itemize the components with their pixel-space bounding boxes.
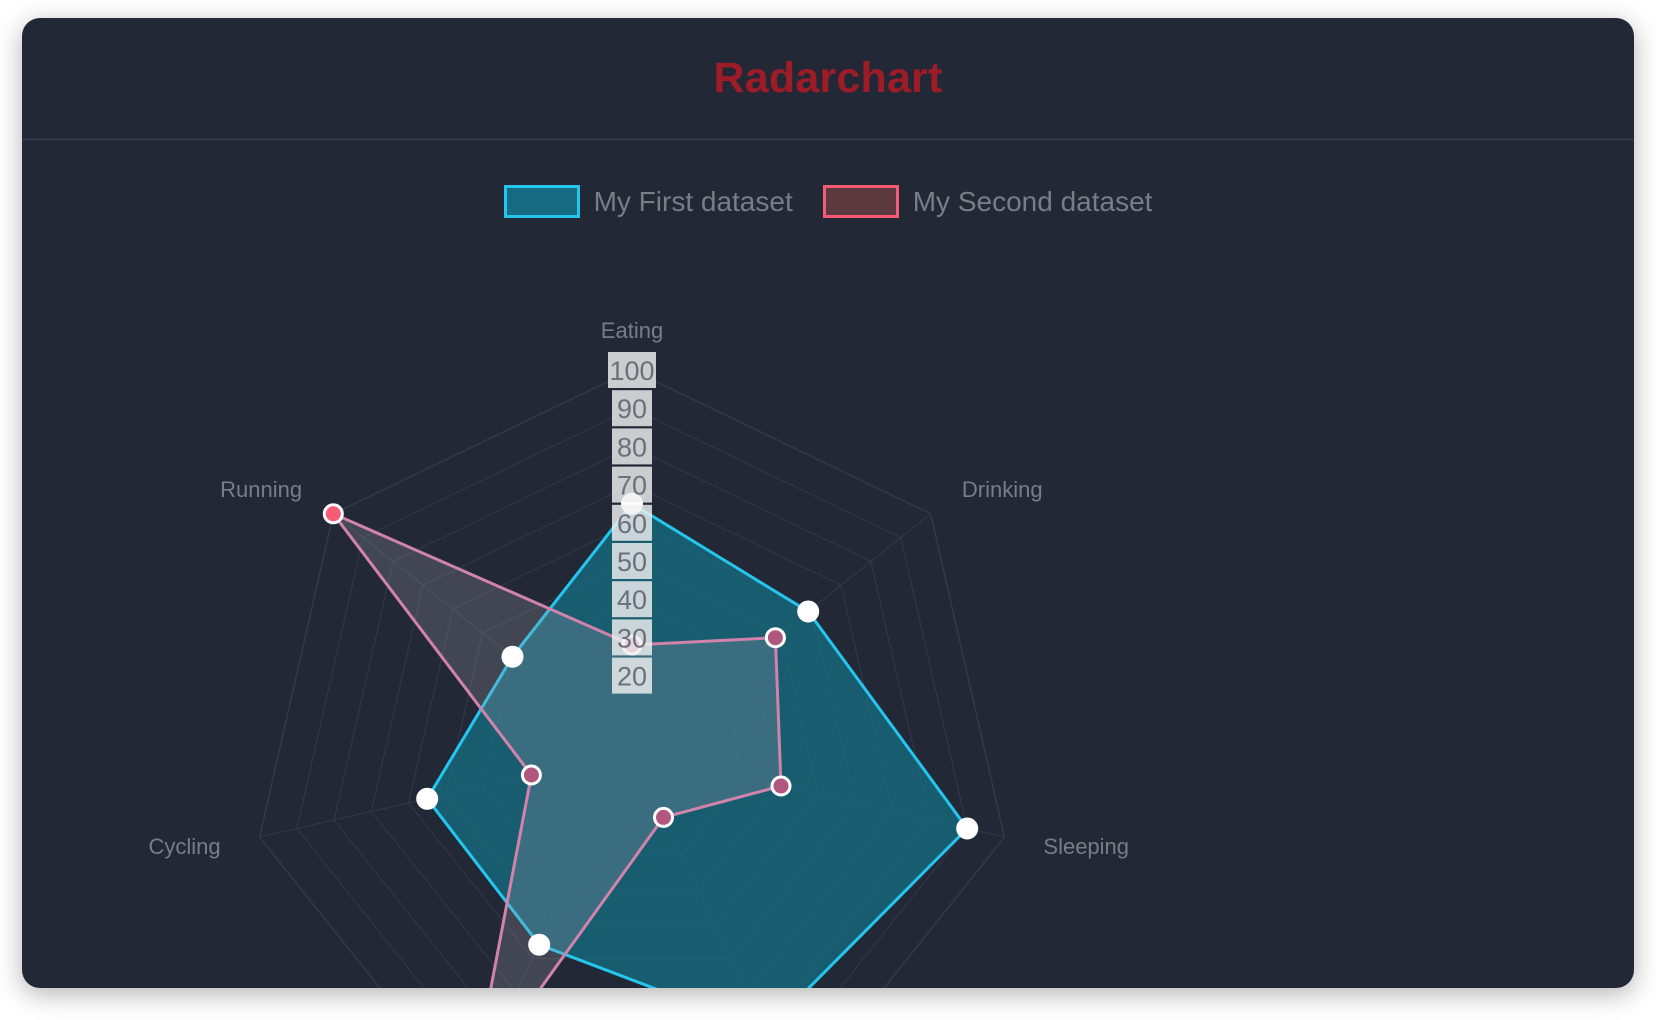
tick-label: 60 xyxy=(617,509,647,539)
radar-svg: EatingDrinkingSleepingDesigningCodingCyc… xyxy=(22,140,1634,988)
tick-label: 20 xyxy=(617,662,647,692)
tick-label: 90 xyxy=(617,394,647,424)
page-title: Radarchart xyxy=(713,54,942,103)
tick-label-group: 70 xyxy=(612,467,652,503)
tick-label-group: 100 xyxy=(608,352,656,388)
data-point[interactable] xyxy=(529,935,549,955)
card-header: Radarchart xyxy=(22,18,1634,140)
card-body: My First dataset My Second dataset Eatin… xyxy=(22,140,1634,988)
tick-label: 80 xyxy=(617,432,647,462)
tick-label: 30 xyxy=(617,623,647,653)
tick-label-group: 40 xyxy=(612,581,652,617)
data-point[interactable] xyxy=(798,602,818,622)
axis-label-cycling: Cycling xyxy=(148,834,220,859)
axis-label-eating: Eating xyxy=(601,318,663,343)
data-point[interactable] xyxy=(772,777,790,795)
tick-label: 40 xyxy=(617,585,647,615)
tick-label-group: 50 xyxy=(612,543,652,579)
radar-chart[interactable]: EatingDrinkingSleepingDesigningCodingCyc… xyxy=(22,140,1634,988)
tick-label-group: 60 xyxy=(612,505,652,541)
data-point[interactable] xyxy=(766,629,784,647)
tick-label: 100 xyxy=(609,356,654,386)
data-point[interactable] xyxy=(522,766,540,784)
radarchart-card: Radarchart My First dataset My Second da… xyxy=(22,18,1634,988)
data-point[interactable] xyxy=(503,647,523,667)
tick-label-group: 90 xyxy=(612,390,652,426)
tick-label-group: 20 xyxy=(612,658,652,694)
tick-label: 50 xyxy=(617,547,647,577)
axis-label-drinking: Drinking xyxy=(962,477,1043,502)
data-point[interactable] xyxy=(417,789,437,809)
data-point[interactable] xyxy=(655,808,673,826)
axis-label-running: Running xyxy=(220,477,302,502)
axis-label-sleeping: Sleeping xyxy=(1043,834,1129,859)
tick-label: 70 xyxy=(617,471,647,501)
page-root: Radarchart My First dataset My Second da… xyxy=(0,0,1656,1020)
data-point[interactable] xyxy=(957,819,977,839)
tick-label-group: 80 xyxy=(612,428,652,464)
data-point[interactable] xyxy=(324,505,342,523)
tick-label-group: 30 xyxy=(612,619,652,655)
